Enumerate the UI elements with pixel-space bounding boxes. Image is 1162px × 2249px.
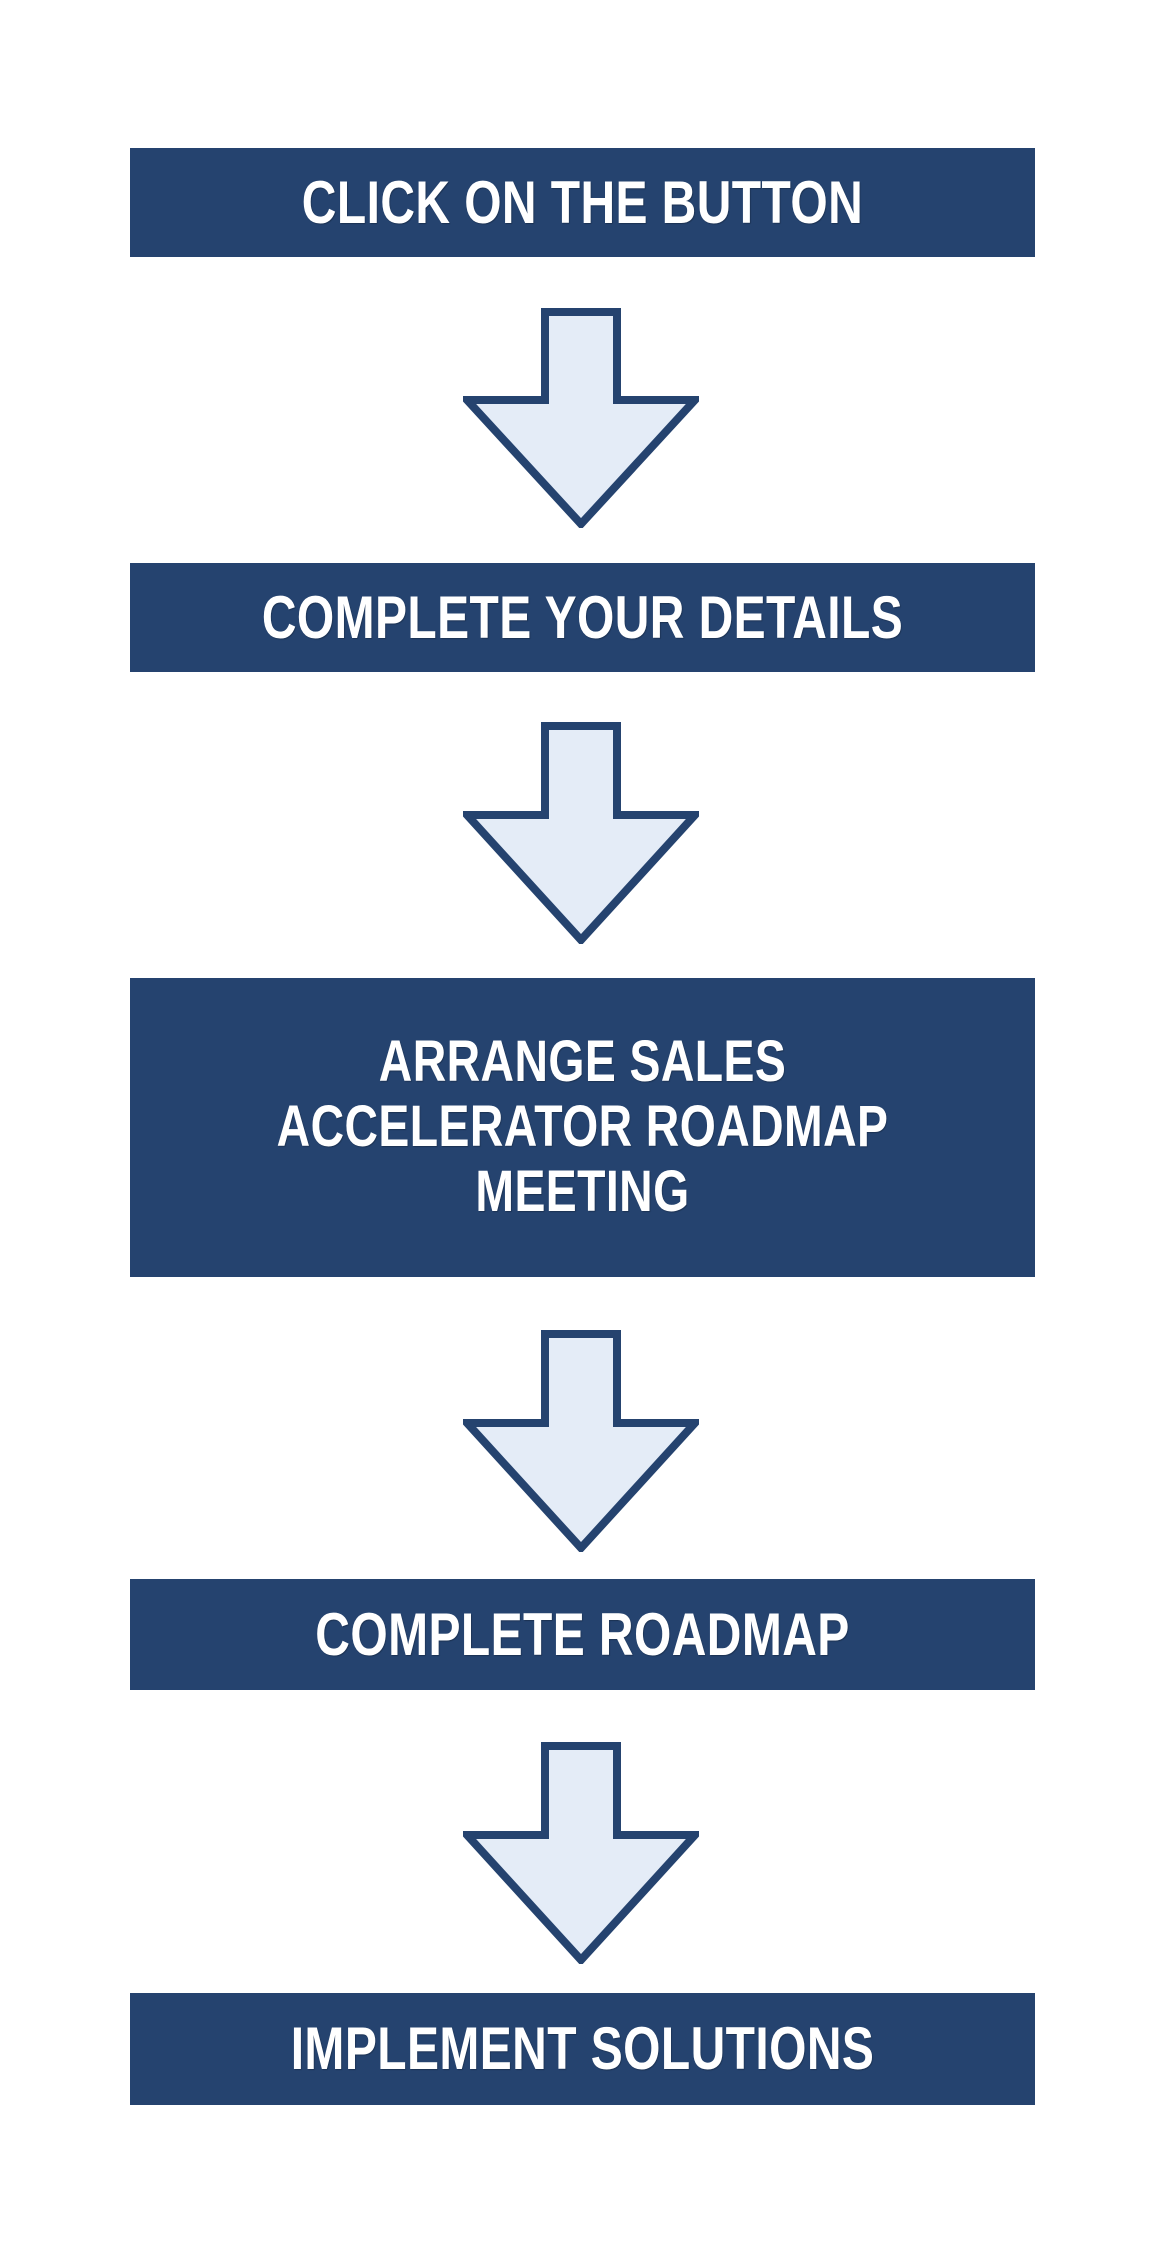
flowchart-container: CLICK ON THE BUTTON COMPLETE YOUR DETAIL… [0,0,1162,2249]
arrow-down-icon [463,308,699,528]
flow-step-4[interactable]: COMPLETE ROADMAP [130,1579,1035,1690]
arrow-down-icon [463,722,699,944]
arrow-down-icon [463,1742,699,1964]
flow-step-4-label: COMPLETE ROADMAP [232,1601,934,1668]
flow-step-1[interactable]: CLICK ON THE BUTTON [130,148,1035,257]
flow-step-3-label: ARRANGE SALES ACCELERATOR ROADMAP MEETIN… [232,1030,934,1225]
arrow-down-icon [463,1330,699,1552]
flow-step-5[interactable]: IMPLEMENT SOLUTIONS [130,1993,1035,2105]
flow-step-1-label: CLICK ON THE BUTTON [232,169,934,236]
flow-step-3[interactable]: ARRANGE SALES ACCELERATOR ROADMAP MEETIN… [130,978,1035,1277]
flow-step-5-label: IMPLEMENT SOLUTIONS [232,2015,934,2082]
flow-step-2-label: COMPLETE YOUR DETAILS [232,584,934,651]
flow-step-2[interactable]: COMPLETE YOUR DETAILS [130,563,1035,672]
